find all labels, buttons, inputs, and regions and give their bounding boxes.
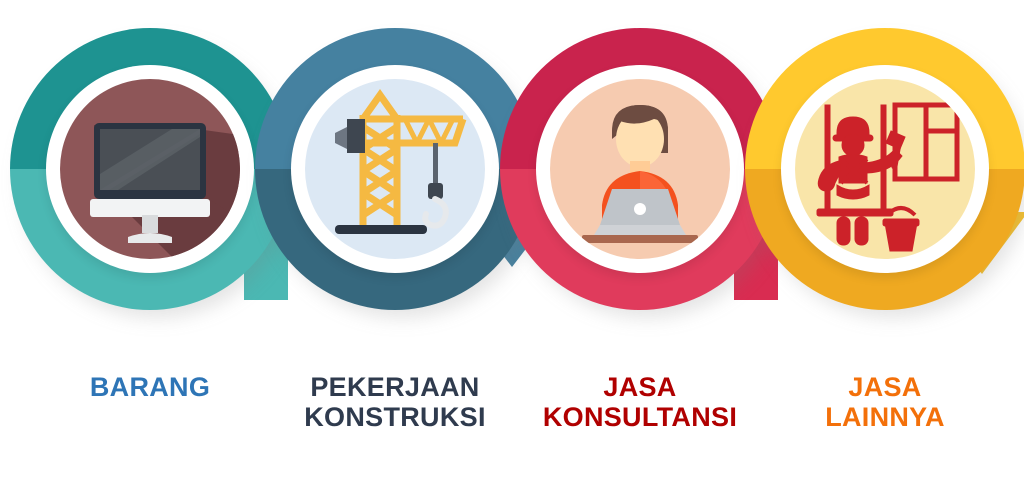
step-pekerjaan-konstruksi[interactable] [255, 28, 535, 310]
label-konsultansi-line2: KONSULTANSI [510, 402, 770, 432]
icon-disc-konstruksi [305, 79, 485, 259]
window-cleaner-icon [795, 79, 975, 259]
label-konstruksi-line1: PEKERJAAN [265, 372, 525, 402]
label-jasa-lainnya: JASA LAINNYA [760, 372, 1010, 432]
label-lainnya-line2: LAINNYA [760, 402, 1010, 432]
consultant-laptop-icon [550, 79, 730, 259]
label-konsultansi-line1: JASA [510, 372, 770, 402]
step-barang[interactable] [10, 28, 290, 310]
step-jasa-lainnya[interactable] [745, 28, 1024, 310]
label-jasa-konsultansi: JASA KONSULTANSI [510, 372, 770, 432]
label-pekerjaan-konstruksi: PEKERJAAN KONSTRUKSI [265, 372, 525, 432]
label-barang: BARANG [30, 372, 270, 402]
icon-disc-barang [60, 79, 240, 259]
label-lainnya-line1: JASA [760, 372, 1010, 402]
label-konstruksi-line2: KONSTRUKSI [265, 402, 525, 432]
icon-disc-lainnya [795, 79, 975, 259]
icon-disc-konsultansi [550, 79, 730, 259]
tower-crane-icon [305, 79, 485, 259]
infographic-canvas: BARANG PEKERJAAN KONSTRUKSI JASA KONSULT… [0, 0, 1024, 481]
label-barang-line1: BARANG [30, 372, 270, 402]
step-jasa-konsultansi[interactable] [500, 28, 780, 310]
desktop-monitor-icon [60, 79, 240, 259]
